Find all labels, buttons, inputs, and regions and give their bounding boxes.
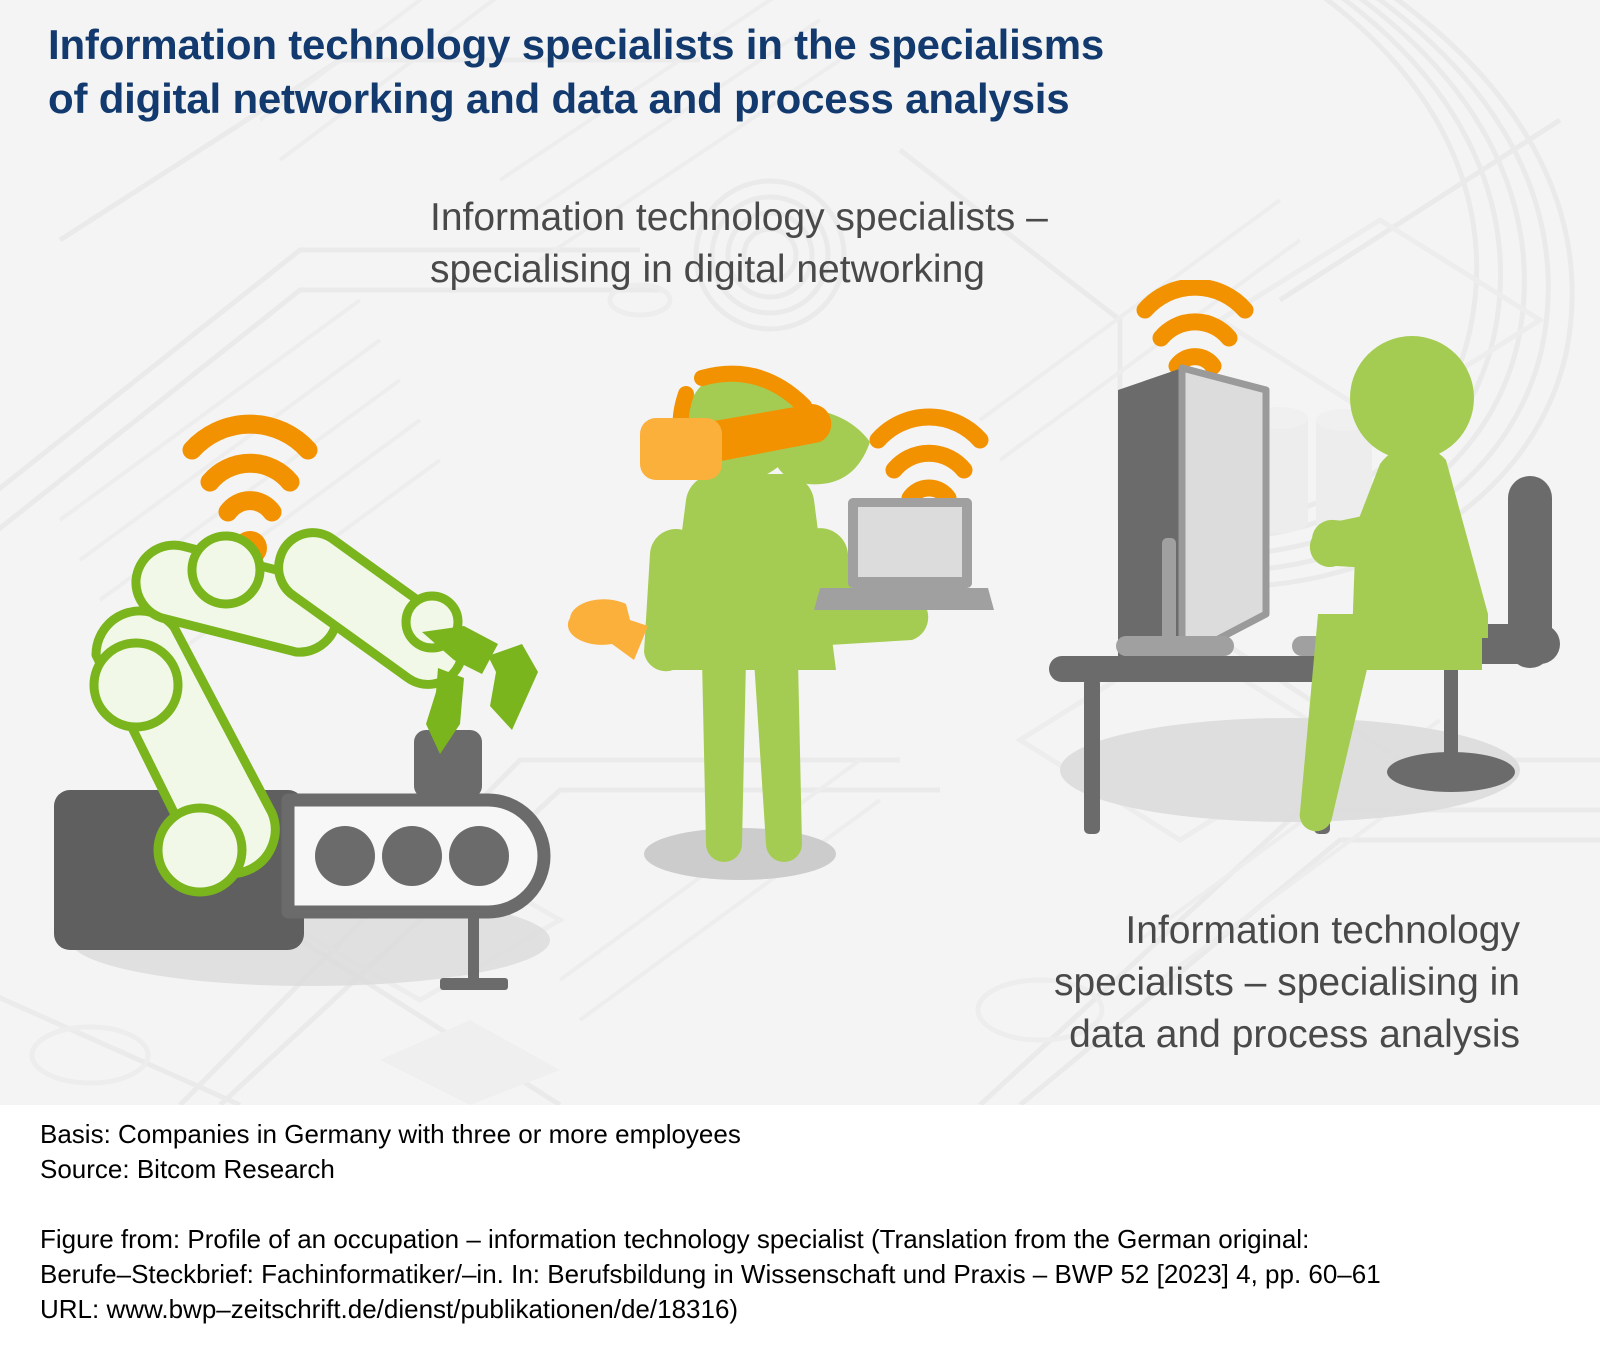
wifi-icon	[192, 424, 308, 512]
wifi-icon	[878, 417, 980, 498]
conveyor-foot	[440, 978, 508, 990]
infographic-page: Information technology specialists in th…	[0, 0, 1600, 1356]
footer-citation: Figure from: Profile of an occupation – …	[40, 1222, 1381, 1326]
wifi-icon	[1145, 287, 1245, 366]
caption-digital-networking: Information technology specialists – spe…	[430, 192, 1190, 296]
person-head	[1350, 336, 1474, 460]
desk-worker-illustration	[1000, 280, 1580, 840]
robot-joint-elbow	[192, 536, 260, 604]
person-left-hand	[568, 599, 648, 660]
conveyor-leg	[468, 912, 479, 986]
robot-pivot	[158, 808, 242, 892]
page-title: Information technology specialists in th…	[48, 18, 1348, 126]
footer-basis-source: Basis: Companies in Germany with three o…	[40, 1117, 741, 1187]
robot-joint-base	[94, 643, 178, 727]
monitor-icon	[1116, 368, 1266, 658]
person-left-arm	[644, 529, 692, 671]
footer-panel: Basis: Companies in Germany with three o…	[0, 1105, 1600, 1356]
vr-person-illustration	[490, 360, 1010, 890]
graphic-panel: Information technology specialists in th…	[0, 0, 1600, 1105]
caption-data-process-analysis: Information technology specialists – spe…	[900, 905, 1520, 1061]
